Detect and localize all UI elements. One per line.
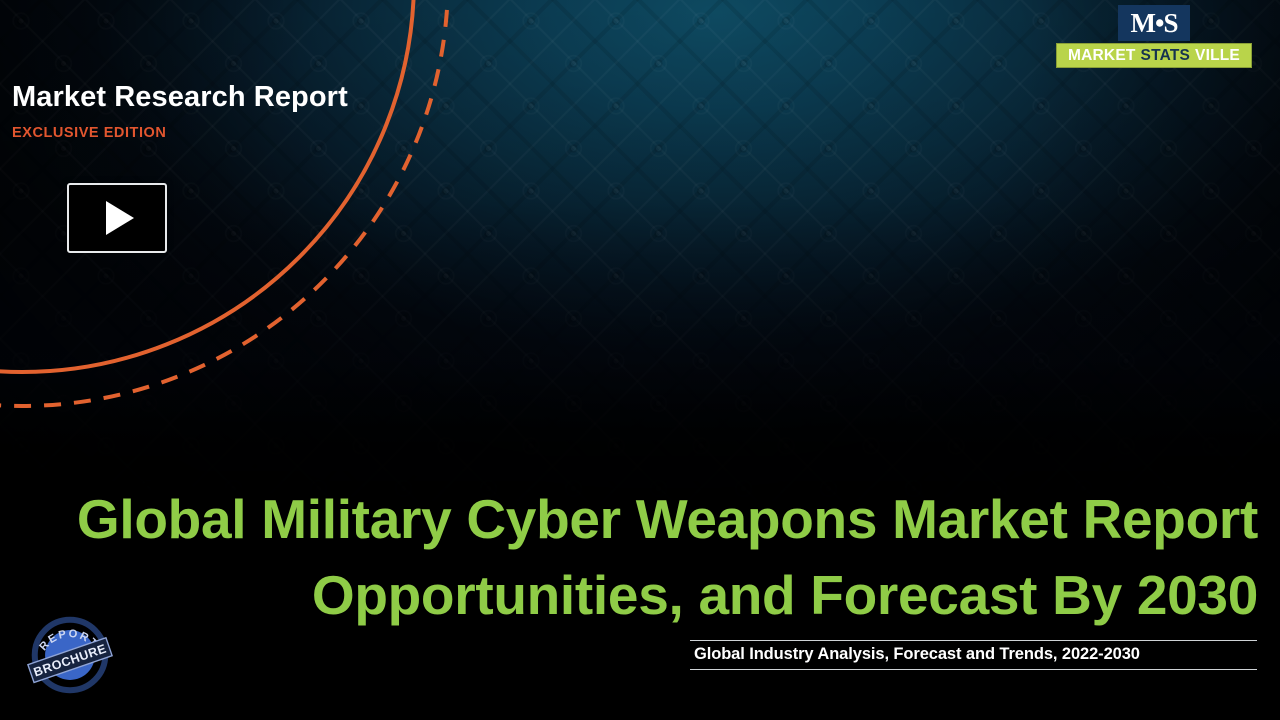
brand-wordmark: MARKET STATS VILLE [1056, 43, 1252, 68]
brand-logo[interactable]: M•S MARKET STATS VILLE [1056, 5, 1252, 68]
main-subtitle: Global Industry Analysis, Forecast and T… [690, 640, 1257, 670]
edition-badge: EXCLUSIVE EDITION [12, 125, 432, 141]
main-title-line-2: Opportunities, and Forecast By 2030 [24, 558, 1258, 634]
play-icon [106, 201, 134, 235]
main-title: Global Military Cyber Weapons Market Rep… [24, 482, 1258, 634]
report-brochure-stamp-icon[interactable]: REPORT BROCHURE [27, 612, 113, 698]
brand-word-stats: STATS [1141, 48, 1191, 64]
brand-word-ville: VILLE [1195, 48, 1240, 64]
header-block: Market Research Report EXCLUSIVE EDITION [12, 82, 432, 141]
brand-monogram-text: M•S [1131, 10, 1178, 37]
brand-monogram-icon: M•S [1118, 5, 1190, 41]
page-title: Market Research Report [12, 82, 432, 114]
report-cover-slide: Market Research Report EXCLUSIVE EDITION… [0, 0, 1280, 720]
play-video-button[interactable] [67, 183, 167, 253]
main-title-line-1: Global Military Cyber Weapons Market Rep… [24, 482, 1258, 558]
brand-word-market: MARKET [1068, 48, 1136, 64]
